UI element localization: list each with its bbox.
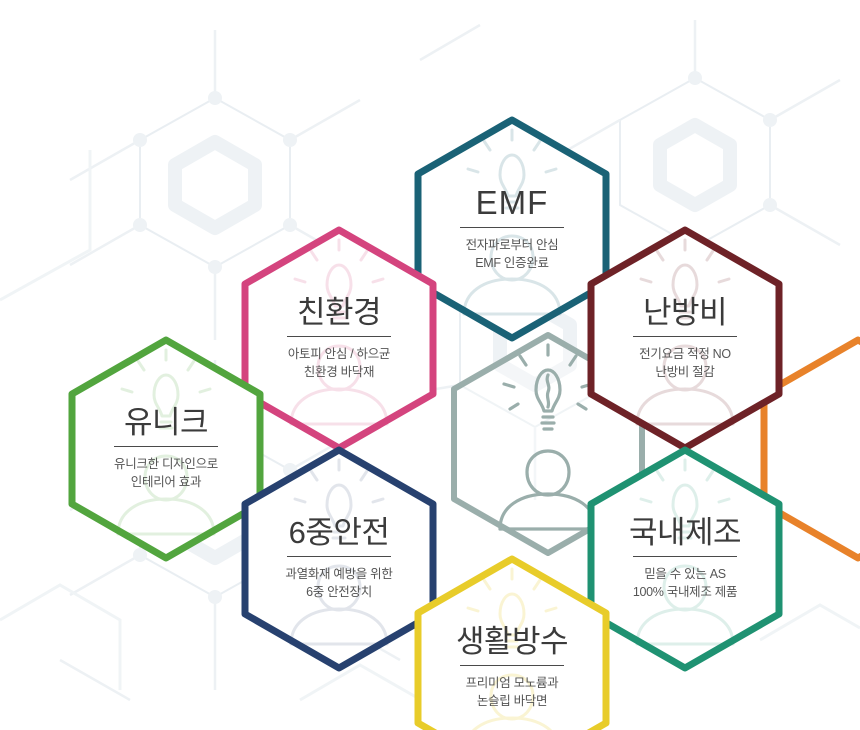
hexagon-desc-safety: 과열화재 예방을 위한 6중 안전장치 — [285, 565, 392, 601]
divider — [460, 665, 564, 666]
divider — [287, 336, 391, 337]
feature-hexagon-infographic: EMF 전자파로부터 안심 EMF 인증완료 친환경 아토피 안심 / 하으균 … — [0, 0, 860, 730]
hexagon-title-unique: 유니크 — [124, 407, 208, 440]
hexagon-card-safety[interactable]: 6중안전 과열화재 예방을 위한 6중 안전장치 — [239, 444, 439, 674]
hexagon-title-domestic: 국내제조 — [629, 517, 741, 550]
hexagon-card-unique[interactable]: 유니크 유니크한 디자인으로 인테리어 효과 — [66, 334, 266, 564]
hexagon-desc-waterproof: 프리미엄 모노륨과 논슬립 바닥면 — [466, 674, 559, 710]
divider — [460, 227, 564, 228]
divider — [633, 336, 737, 337]
hexagon-card-heating-cost[interactable]: 난방비 전기요금 적정 NO 난방비 절감 — [585, 224, 785, 454]
hexagon-card-domestic[interactable]: 국내제조 믿을 수 있는 AS 100% 국내제조 제품 — [585, 444, 785, 674]
hexagon-desc-heating-cost: 전기요금 적정 NO 난방비 절감 — [639, 345, 731, 381]
hexagon-desc-emf: 전자파로부터 안심 EMF 인증완료 — [466, 236, 559, 272]
divider — [633, 556, 737, 557]
hexagon-title-safety: 6중안전 — [289, 517, 390, 550]
divider — [114, 446, 218, 447]
hexagon-title-eco: 친환경 — [297, 297, 381, 330]
hexagon-card-eco[interactable]: 친환경 아토피 안심 / 하으균 친환경 바닥재 — [239, 224, 439, 454]
hexagon-title-heating-cost: 난방비 — [643, 297, 727, 330]
hexagon-card-waterproof[interactable]: 생활방수 프리미엄 모노륨과 논슬립 바닥면 — [412, 553, 612, 730]
divider — [287, 556, 391, 557]
hexagon-desc-eco: 아토피 안심 / 하으균 친환경 바닥재 — [288, 345, 390, 381]
hexagon-card-emf[interactable]: EMF 전자파로부터 안심 EMF 인증완료 — [412, 114, 612, 344]
hexagon-desc-unique: 유니크한 디자인으로 인테리어 효과 — [114, 455, 218, 491]
hexagon-title-emf: EMF — [476, 186, 549, 221]
hexagon-title-waterproof: 생활방수 — [456, 626, 568, 659]
hexagon-desc-domestic: 믿을 수 있는 AS 100% 국내제조 제품 — [633, 565, 737, 601]
